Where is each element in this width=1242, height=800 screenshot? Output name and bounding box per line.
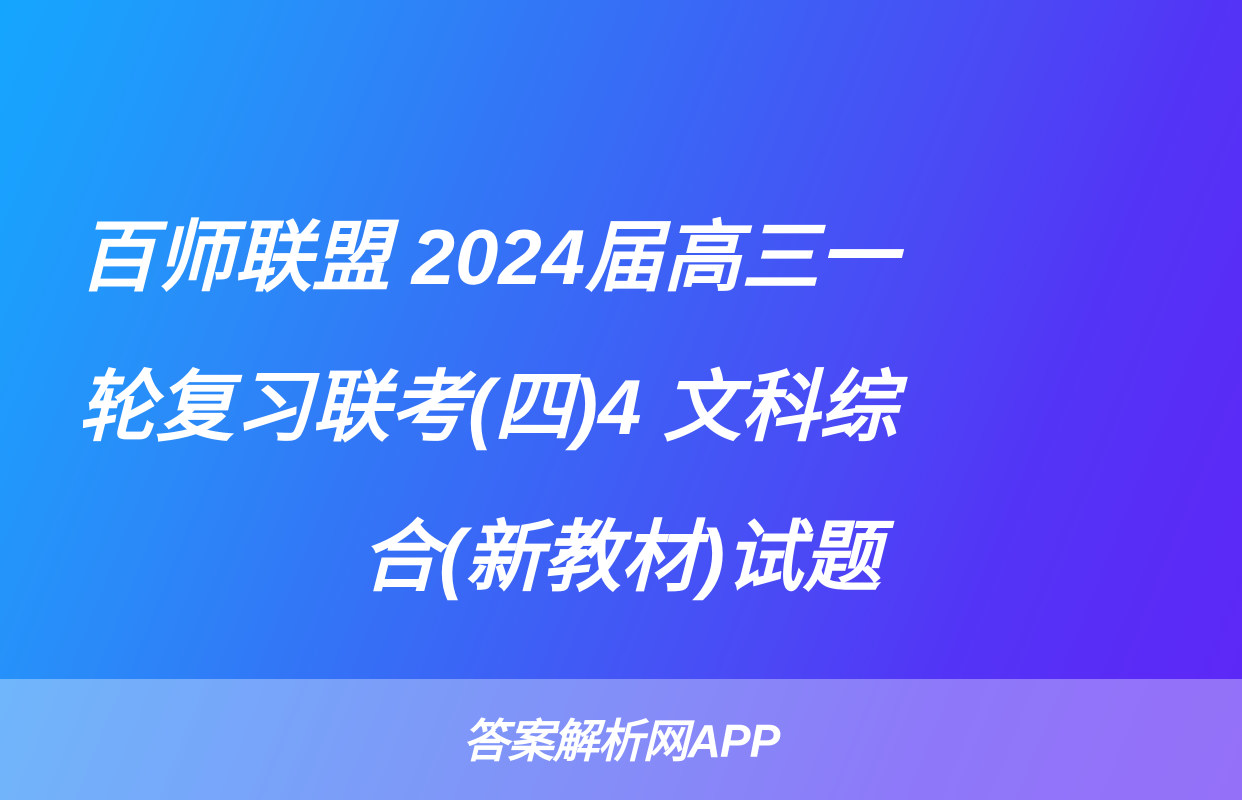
page-title: 百师联盟 2024届高三一 轮复习联考(四)4 文科综 合(新教材)试题	[78, 182, 1164, 632]
footer-band: 答案解析网APP	[0, 679, 1242, 800]
title-line-2: 轮复习联考(四)4 文科综	[78, 332, 1164, 482]
title-line-1: 百师联盟 2024届高三一	[78, 182, 1164, 332]
exam-cover-card: 百师联盟 2024届高三一 轮复习联考(四)4 文科综 合(新教材)试题 答案解…	[0, 0, 1242, 800]
title-line-3: 合(新教材)试题	[78, 482, 1164, 632]
watermark-brand-label: 答案解析网APP	[463, 718, 780, 764]
